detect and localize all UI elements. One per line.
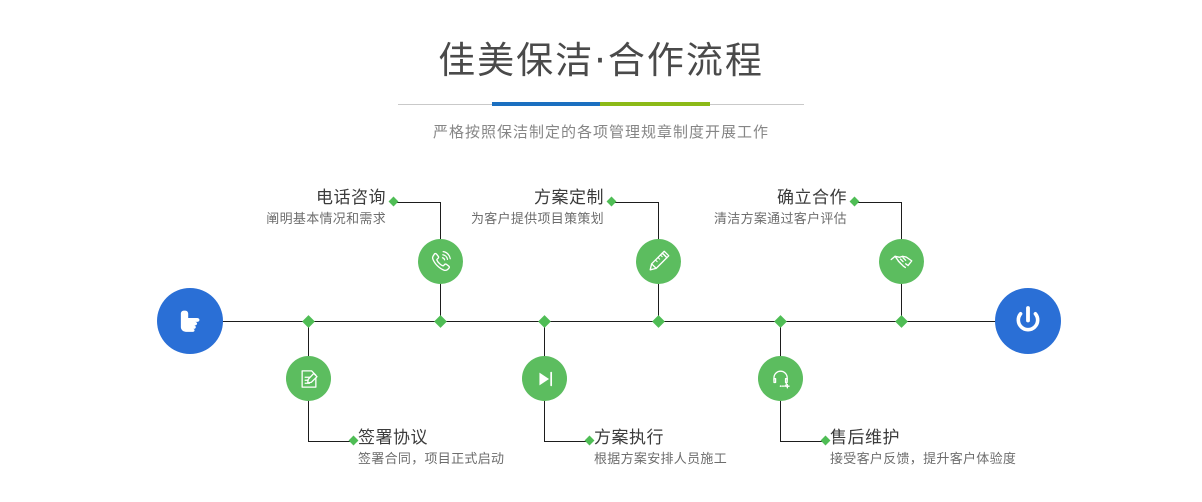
step-title-5: 确立合作 [611, 188, 847, 208]
step-desc-3: 为客户提供项目策策划 [368, 211, 604, 229]
connector-horizontal-step5 [857, 202, 901, 203]
axis-diamond-step4 [538, 315, 551, 328]
step-node-6[interactable] [758, 356, 803, 401]
axis-diamond-step6 [774, 315, 787, 328]
axis-diamond-step3 [652, 315, 665, 328]
timeline-axis [158, 321, 1044, 322]
step-title-4: 方案执行 [594, 428, 854, 448]
play-execute-icon [533, 367, 557, 391]
connector-horizontal-step4 [544, 441, 590, 442]
page-header: 佳美保洁·合作流程 严格按照保洁制定的各项管理规章制度开展工作 [0, 0, 1202, 142]
phone-ring-icon [428, 249, 453, 274]
step-desc-2: 签署合同，项目正式启动 [358, 451, 618, 469]
timeline-start-node[interactable] [157, 288, 223, 354]
step-label-4: 方案执行 根据方案安排人员施工 [594, 428, 854, 469]
step-label-6: 售后维护 接受客户反馈，提升客户体验度 [830, 428, 1110, 469]
divider-segment-green [600, 102, 710, 106]
page-title: 佳美保洁·合作流程 [0, 42, 1202, 79]
step-title-6: 售后维护 [830, 428, 1110, 448]
flow-diagram-canvas: 佳美保洁·合作流程 严格按照保洁制定的各项管理规章制度开展工作 [0, 0, 1202, 502]
step-node-4[interactable] [522, 356, 567, 401]
pencil-ruler-icon [646, 249, 671, 274]
step-node-2[interactable] [286, 356, 331, 401]
step-title-3: 方案定制 [368, 188, 604, 208]
connector-horizontal-step6 [780, 441, 826, 442]
pointing-hand-icon [173, 304, 207, 338]
step-desc-1: 阐明基本情况和需求 [150, 211, 386, 229]
power-icon [1010, 303, 1046, 339]
page-subtitle: 严格按照保洁制定的各项管理规章制度开展工作 [0, 121, 1202, 142]
axis-diamond-step1 [434, 315, 447, 328]
step-node-5[interactable] [879, 239, 924, 284]
step-node-3[interactable] [636, 239, 681, 284]
step-title-1: 电话咨询 [150, 188, 386, 208]
step-label-2: 签署协议 签署合同，项目正式启动 [358, 428, 618, 469]
step-desc-5: 清洁方案通过客户评估 [611, 211, 847, 229]
connector-diamond-step2 [349, 436, 359, 446]
step-desc-6: 接受客户反馈，提升客户体验度 [830, 451, 1110, 469]
title-divider [398, 99, 804, 111]
step-desc-4: 根据方案安排人员施工 [594, 451, 854, 469]
connector-horizontal-step2 [308, 441, 354, 442]
divider-segment-blue [492, 102, 600, 106]
handshake-icon [889, 249, 914, 274]
connector-diamond-step5 [850, 197, 860, 207]
headset-support-icon [769, 367, 793, 391]
step-node-1[interactable] [418, 239, 463, 284]
step-label-1: 电话咨询 阐明基本情况和需求 [150, 188, 386, 229]
timeline-end-node[interactable] [995, 288, 1061, 354]
step-label-3: 方案定制 为客户提供项目策策划 [368, 188, 604, 229]
document-sign-icon [297, 367, 321, 391]
step-label-5: 确立合作 清洁方案通过客户评估 [611, 188, 847, 229]
step-title-2: 签署协议 [358, 428, 618, 448]
axis-diamond-step2 [302, 315, 315, 328]
axis-diamond-step5 [895, 315, 908, 328]
